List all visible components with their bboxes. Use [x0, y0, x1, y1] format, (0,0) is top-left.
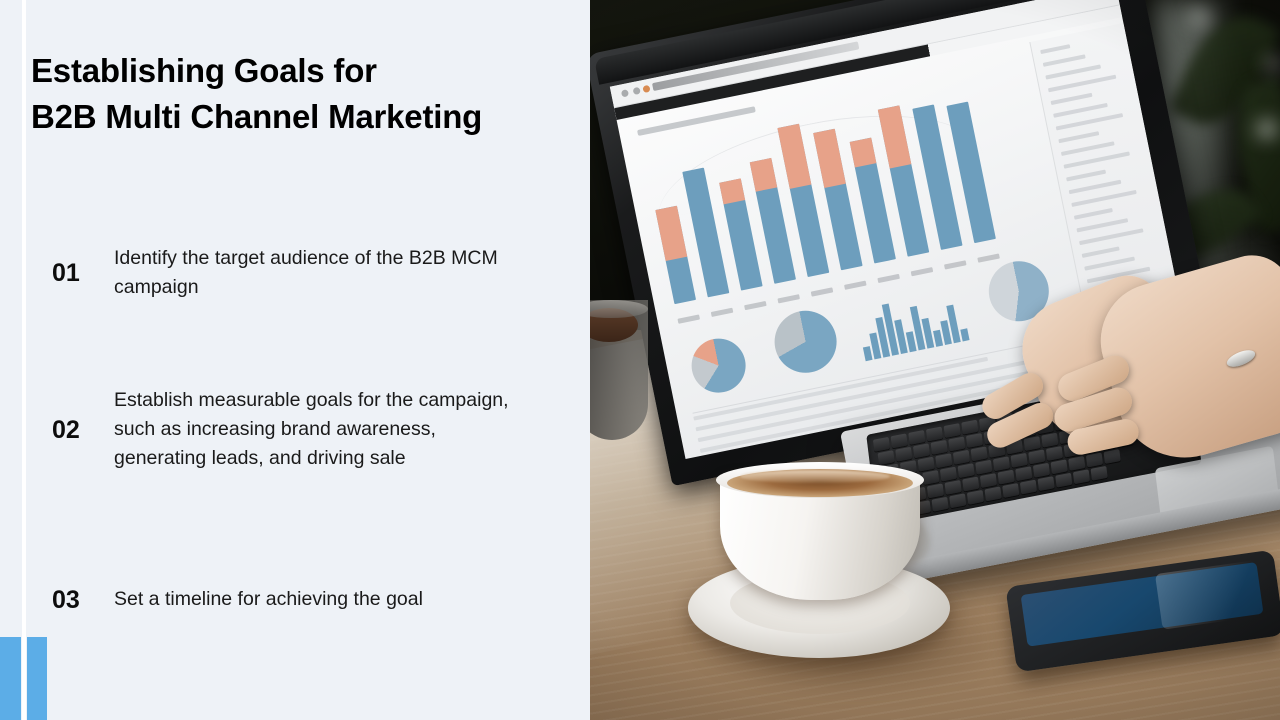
slide-root: Establishing Goals for B2B Multi Channel…: [0, 0, 1280, 720]
keyboard-key: [895, 447, 912, 462]
rail-line: [1079, 228, 1143, 245]
rail-line: [1061, 141, 1115, 156]
keyboard-key: [908, 430, 925, 445]
keyboard-key: [931, 440, 948, 455]
coffee-foam: [740, 470, 890, 483]
keyboard-key: [980, 473, 997, 488]
chart-axis-label: [844, 281, 867, 290]
keyboard-key: [918, 457, 935, 472]
keyboard-key: [948, 436, 965, 451]
keyboard-key: [1041, 433, 1058, 448]
keyboard-key: [971, 446, 988, 461]
keyboard-key: [1033, 463, 1050, 478]
keyboard-key: [1002, 483, 1019, 498]
goal-number: 03: [52, 587, 114, 613]
keyboard-key: [922, 470, 939, 485]
browser-dot-icon: [621, 89, 629, 97]
chart-axis-label: [977, 253, 1000, 262]
keyboard-key: [945, 480, 962, 495]
chart-bar: [655, 206, 696, 304]
keyboard-key: [1024, 436, 1041, 451]
chart-axis-label: [944, 260, 967, 269]
keyboard-key: [891, 433, 908, 448]
list-item: 01 Identify the target audience of the B…: [52, 244, 552, 302]
keyboard-key: [1055, 473, 1072, 488]
keyboard-key: [962, 477, 979, 492]
goals-list: 01 Identify the target audience of the B…: [0, 0, 590, 720]
dashboard-mini-bar-chart: [854, 282, 973, 361]
keyboard-key: [998, 470, 1015, 485]
chart-axis-label: [744, 301, 767, 310]
keyboard-key: [961, 420, 978, 435]
rail-line: [1058, 131, 1099, 143]
rail-line: [1074, 208, 1113, 220]
keyboard-key: [1028, 449, 1045, 464]
rail-line: [1066, 170, 1106, 182]
goal-text: Set a timeline for achieving the goal: [114, 585, 544, 614]
keyboard-key: [1038, 476, 1055, 491]
background-bokeh-light: [1250, 118, 1280, 140]
chart-axis-label: [677, 314, 700, 323]
rail-line: [1069, 180, 1122, 194]
list-item: 02 Establish measurable goals for the ca…: [52, 386, 552, 473]
keyboard-key: [1104, 449, 1121, 464]
glass-bowl: [590, 300, 648, 440]
browser-dot-icon: [642, 85, 650, 93]
goal-text: Establish measurable goals for the campa…: [114, 386, 519, 473]
dashboard-pie-chart: [687, 334, 751, 398]
chart-axis-label: [711, 308, 734, 317]
rail-line: [1045, 64, 1101, 79]
keyboard-key: [913, 443, 930, 458]
hero-photo: [590, 0, 1280, 720]
rail-line: [1043, 54, 1086, 66]
keyboard-key: [993, 456, 1010, 471]
keyboard-row: [873, 440, 875, 453]
keyboard-key: [967, 490, 984, 505]
list-item: 03 Set a timeline for achieving the goal: [52, 585, 552, 614]
goal-text: Identify the target audience of the B2B …: [114, 244, 544, 302]
keyboard-key: [873, 437, 890, 452]
accent-bar-left: [0, 637, 21, 720]
rail-line: [1082, 246, 1120, 257]
keyboard-key: [958, 463, 975, 478]
content-panel: Establishing Goals for B2B Multi Channel…: [0, 0, 590, 720]
keyboard-key: [927, 483, 944, 498]
mini-chart-bar: [960, 328, 969, 341]
keyboard-key: [1091, 466, 1108, 481]
keyboard-key: [940, 467, 957, 482]
bowl-rim: [590, 300, 648, 318]
keyboard-key: [935, 453, 952, 468]
rail-line: [1076, 218, 1128, 232]
rail-line: [1051, 93, 1093, 105]
keyboard-key: [949, 493, 966, 508]
mini-chart-bar: [863, 346, 873, 361]
keyboard-key: [1073, 469, 1090, 484]
keyboard-key: [966, 433, 983, 448]
keyboard-key: [1015, 466, 1032, 481]
smartphone-glare: [1155, 559, 1272, 630]
keyboard-key: [1086, 452, 1103, 467]
keyboard-key: [926, 427, 943, 442]
keyboard-key: [1011, 453, 1028, 468]
rail-line: [1040, 44, 1070, 54]
keyboard-key: [1068, 456, 1085, 471]
goal-number: 01: [52, 260, 114, 286]
chart-bar-segment: [719, 178, 745, 204]
chart-axis-label: [811, 287, 834, 296]
chart-axis-label: [877, 274, 900, 283]
accent-bar-right: [27, 637, 47, 720]
rail-line: [1084, 257, 1135, 271]
background-bokeh-light: [1186, 8, 1212, 26]
rail-line: [1048, 75, 1116, 93]
keyboard-key: [878, 450, 895, 465]
keyboard-key: [975, 460, 992, 475]
rail-line: [1056, 113, 1123, 130]
keyboard-key: [1051, 459, 1068, 474]
keyboard-key: [932, 497, 949, 512]
keyboard-key: [944, 423, 961, 438]
goal-number: 02: [52, 417, 114, 443]
background-bokeh-light: [1262, 56, 1280, 72]
chart-axis-label: [911, 267, 934, 276]
keyboard-key: [1046, 446, 1063, 461]
rail-line: [1071, 190, 1136, 207]
keyboard-key: [953, 450, 970, 465]
chart-axis-label: [777, 294, 800, 303]
browser-dot-icon: [633, 87, 641, 95]
keyboard-key: [1020, 480, 1037, 495]
rail-line: [1063, 151, 1129, 168]
dashboard-pie-chart: [769, 305, 842, 378]
rail-line: [1053, 103, 1108, 118]
keyboard-key: [985, 486, 1002, 501]
